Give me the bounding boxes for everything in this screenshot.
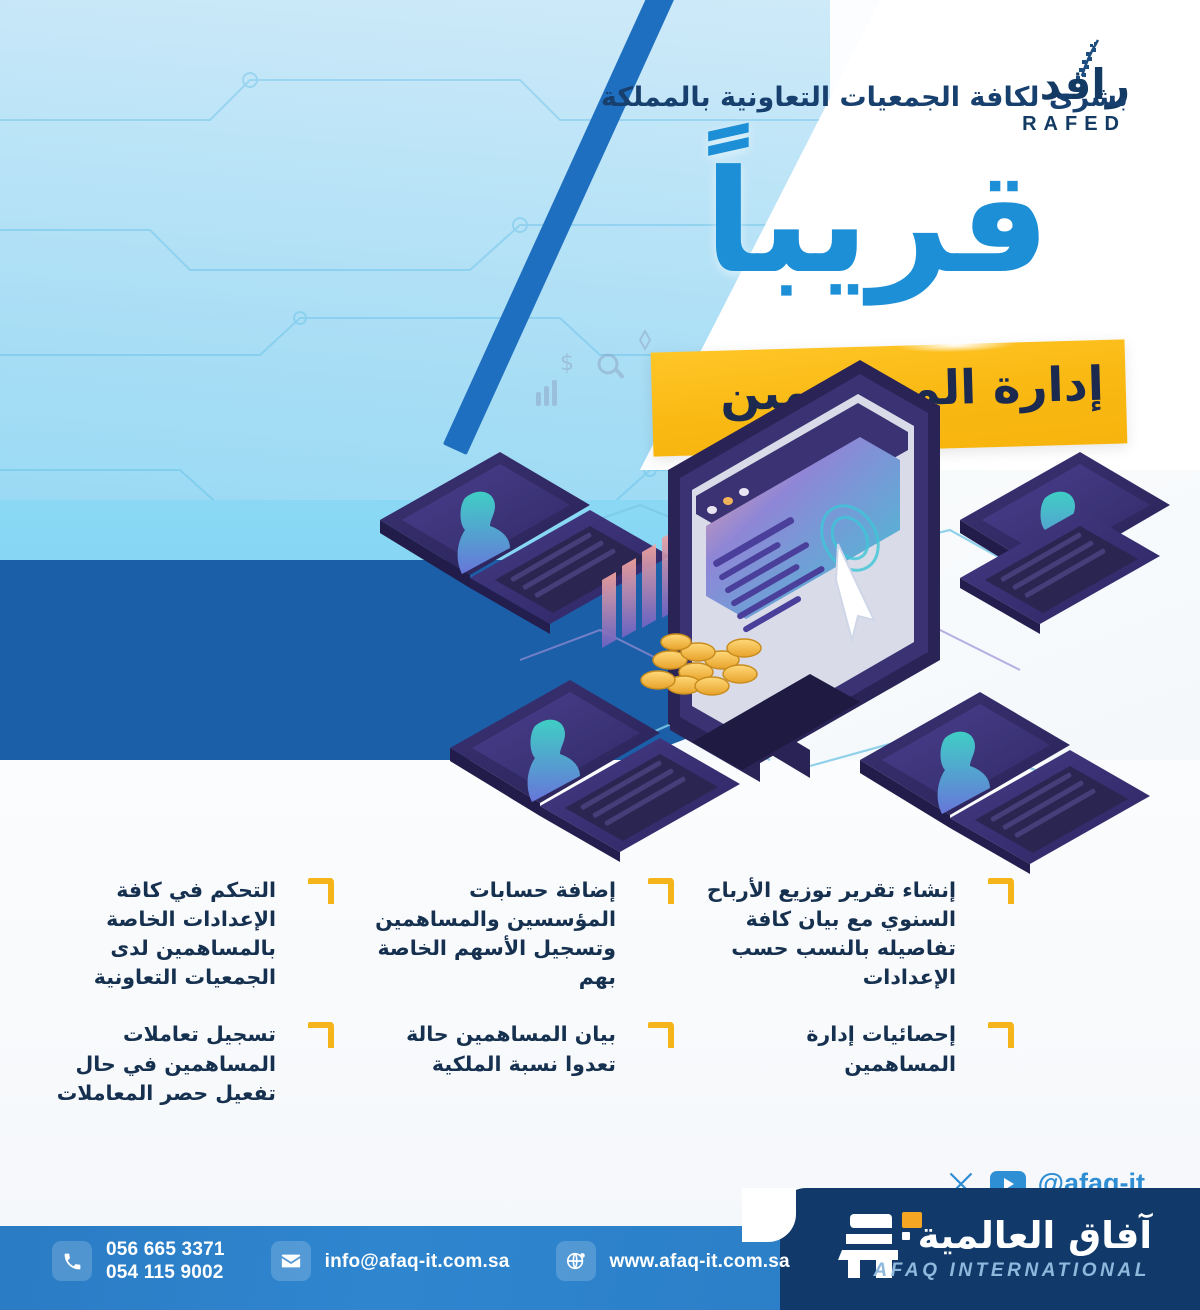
laptop-node bbox=[860, 692, 1150, 874]
feature-text: إحصائيات إدارة المساهمين bbox=[706, 1020, 994, 1078]
isometric-illustration: $ bbox=[340, 330, 1180, 890]
afaq-latin-name: AFAQ INTERNATIONAL bbox=[873, 1260, 1150, 1282]
phone-icon bbox=[52, 1241, 92, 1281]
contact-email[interactable]: info@afaq-it.com.sa bbox=[271, 1241, 510, 1281]
headline: بشرى لكافة الجمعيات التعاونية بالمملكة bbox=[601, 82, 1128, 113]
contact-phone[interactable]: 056 665 3371 054 115 9002 bbox=[52, 1238, 225, 1284]
poster-root: رافد RAFED بشرى لكافة الجمعيات التعاونية… bbox=[0, 0, 1200, 1310]
features-row-2: تسجيل تعاملات المساهمين في حال تفعيل حصر… bbox=[0, 1020, 1200, 1107]
feature-text: تسجيل تعاملات المساهمين في حال تفعيل حصر… bbox=[26, 1020, 314, 1107]
corner-bracket-icon bbox=[308, 878, 334, 904]
phone-numbers: 056 665 3371 054 115 9002 bbox=[106, 1238, 225, 1284]
corner-bracket-icon bbox=[648, 878, 674, 904]
features-row-1: التحكم في كافة الإعدادات الخاصة بالمساهم… bbox=[0, 876, 1200, 992]
corner-bracket-icon bbox=[648, 1022, 674, 1048]
monitor-illustration bbox=[662, 330, 940, 782]
laptop-node bbox=[960, 452, 1170, 634]
svg-text:$: $ bbox=[560, 351, 574, 376]
feature-item: إنشاء تقرير توزيع الأرباح السنوي مع بيان… bbox=[680, 876, 1020, 992]
page-title: قريباً bbox=[704, 152, 1050, 294]
phone-line-2: 054 115 9002 bbox=[106, 1262, 224, 1283]
contact-list: 056 665 3371 054 115 9002 info@afaq-it.c… bbox=[52, 1238, 790, 1284]
website-text: www.afaq-it.com.sa bbox=[610, 1250, 790, 1273]
rafed-latin-text: RAFED bbox=[1022, 113, 1126, 136]
corner-bracket-icon bbox=[308, 1022, 334, 1048]
afaq-arabic-name: آفاق العالمية bbox=[918, 1214, 1152, 1257]
feature-item: بيان المساهمين حالة تعدوا نسبة الملكية bbox=[340, 1020, 680, 1107]
email-icon bbox=[271, 1241, 311, 1281]
corner-bracket-icon bbox=[988, 1022, 1014, 1048]
afaq-logo: آفاق العالمية AFAQ INTERNATIONAL bbox=[826, 1198, 1156, 1304]
floating-icons: $ bbox=[536, 331, 650, 406]
feature-text: إنشاء تقرير توزيع الأرباح السنوي مع بيان… bbox=[706, 876, 994, 992]
footer-bar: 056 665 3371 054 115 9002 info@afaq-it.c… bbox=[0, 1226, 1200, 1310]
feature-item: التحكم في كافة الإعدادات الخاصة بالمساهم… bbox=[0, 876, 340, 992]
feature-item: إضافة حسابات المؤسسين والمساهمين وتسجيل … bbox=[340, 876, 680, 992]
feature-text: إضافة حسابات المؤسسين والمساهمين وتسجيل … bbox=[366, 876, 654, 992]
phone-line-1: 056 665 3371 bbox=[106, 1239, 225, 1260]
feature-item: تسجيل تعاملات المساهمين في حال تفعيل حصر… bbox=[0, 1020, 340, 1107]
feature-text: التحكم في كافة الإعدادات الخاصة بالمساهم… bbox=[26, 876, 314, 992]
feature-item: إحصائيات إدارة المساهمين bbox=[680, 1020, 1020, 1107]
contact-website[interactable]: www.afaq-it.com.sa bbox=[556, 1241, 790, 1281]
globe-icon bbox=[556, 1241, 596, 1281]
email-text: info@afaq-it.com.sa bbox=[325, 1250, 510, 1273]
feature-text: بيان المساهمين حالة تعدوا نسبة الملكية bbox=[366, 1020, 654, 1078]
features-section: التحكم في كافة الإعدادات الخاصة بالمساهم… bbox=[0, 876, 1200, 1108]
corner-bracket-icon bbox=[988, 878, 1014, 904]
